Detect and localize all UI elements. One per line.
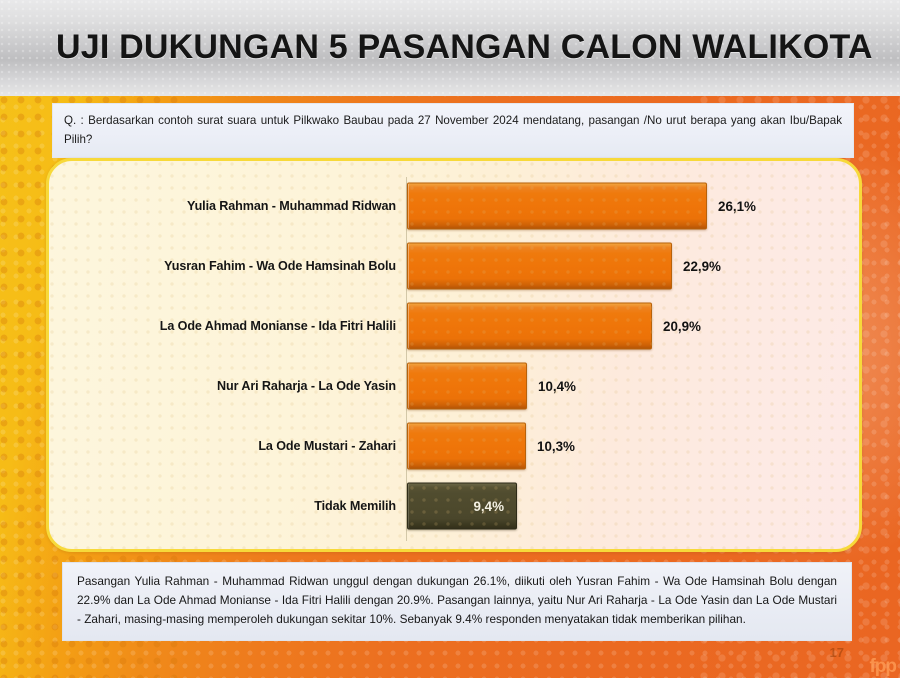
page-number: 17 [830,645,844,660]
bar-segment: 26,1% [407,183,707,230]
chart-row: Tidak Memilih 9,4% [49,477,859,535]
brand-watermark: fpp [869,656,896,678]
chart-row: La Ode Ahmad Monianse - Ida Fitri Halili… [49,297,859,355]
chart-row: Yusran Fahim - Wa Ode Hamsinah Bolu 22,9… [49,237,859,295]
bar-category-label: Yulia Rahman - Muhammad Ridwan [56,199,396,213]
summary-box: Pasangan Yulia Rahman - Muhammad Ridwan … [62,562,852,641]
bar-category-label: La Ode Mustari - Zahari [56,439,396,453]
bar-value-label: 26,1% [718,199,756,214]
bar-value-label: 10,4% [538,379,576,394]
bar-segment: 10,4% [407,363,527,410]
chart-panel: Yulia Rahman - Muhammad Ridwan 26,1% Yus… [46,158,862,552]
chart-row: Yulia Rahman - Muhammad Ridwan 26,1% [49,177,859,235]
bar-category-label: La Ode Ahmad Monianse - Ida Fitri Halili [56,319,396,333]
bar-category-label: Nur Ari Raharja - La Ode Yasin [56,379,396,393]
bar-segment: 22,9% [407,243,672,290]
bar-segment: 10,3% [407,423,526,470]
bar-segment: 9,4% [407,483,517,530]
bar-value-label: 9,4% [473,499,504,514]
chart-row: La Ode Mustari - Zahari 10,3% [49,417,859,475]
bar-value-label: 22,9% [683,259,721,274]
slide-root: UJI DUKUNGAN 5 PASANGAN CALON WALIKOTA Q… [0,0,900,678]
bar-segment: 20,9% [407,303,652,350]
bar-chart: Yulia Rahman - Muhammad Ridwan 26,1% Yus… [49,161,859,549]
title-bar: UJI DUKUNGAN 5 PASANGAN CALON WALIKOTA [0,0,900,96]
bar-value-label: 10,3% [537,439,575,454]
chart-row: Nur Ari Raharja - La Ode Yasin 10,4% [49,357,859,415]
bar-category-label: Tidak Memilih [56,499,396,513]
bar-category-label: Yusran Fahim - Wa Ode Hamsinah Bolu [56,259,396,273]
page-title: UJI DUKUNGAN 5 PASANGAN CALON WALIKOTA [56,28,856,67]
bar-value-label: 20,9% [663,319,701,334]
question-box: Q. : Berdasarkan contoh surat suara untu… [52,103,854,158]
